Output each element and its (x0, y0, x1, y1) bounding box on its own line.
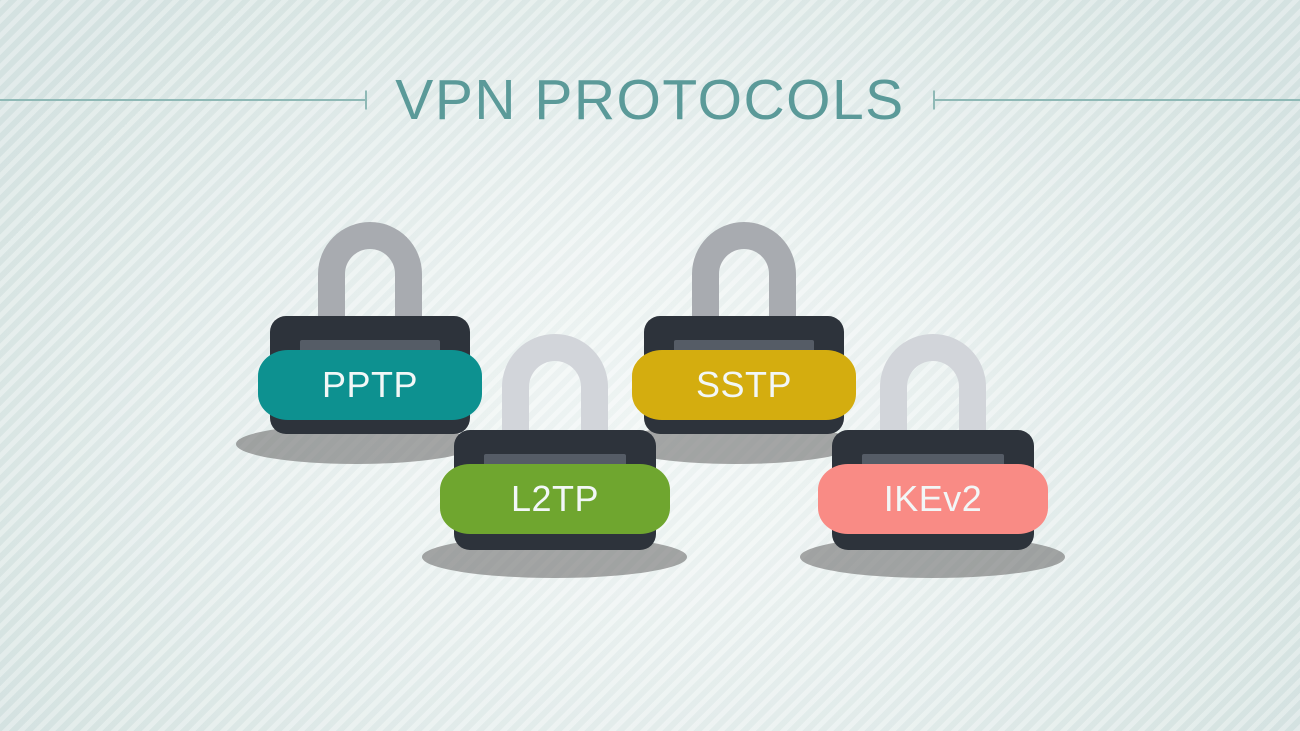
rule-line-right (933, 99, 1300, 101)
protocol-label-sstp: SSTP (696, 367, 792, 403)
protocol-label-pptp: PPTP (322, 367, 418, 403)
page-title: VPN PROTOCOLS (367, 72, 932, 129)
title-rule-right (933, 88, 1300, 112)
title-row: VPN PROTOCOLS (0, 56, 1300, 144)
title-rule-left (0, 88, 367, 112)
illustration-canvas: VPN PROTOCOLS PPTP SSTP (0, 0, 1300, 731)
protocol-label-ikev2: IKEv2 (884, 481, 983, 517)
protocol-band-ikev2[interactable]: IKEv2 (818, 464, 1048, 534)
lock-l2tp[interactable]: L2TP (440, 334, 670, 554)
protocol-label-l2tp: L2TP (511, 481, 599, 517)
protocol-band-l2tp[interactable]: L2TP (440, 464, 670, 534)
rule-tick-left (365, 91, 367, 110)
rule-line-left (0, 99, 367, 101)
lock-ikev2[interactable]: IKEv2 (818, 334, 1048, 554)
rule-tick-right (933, 91, 935, 110)
